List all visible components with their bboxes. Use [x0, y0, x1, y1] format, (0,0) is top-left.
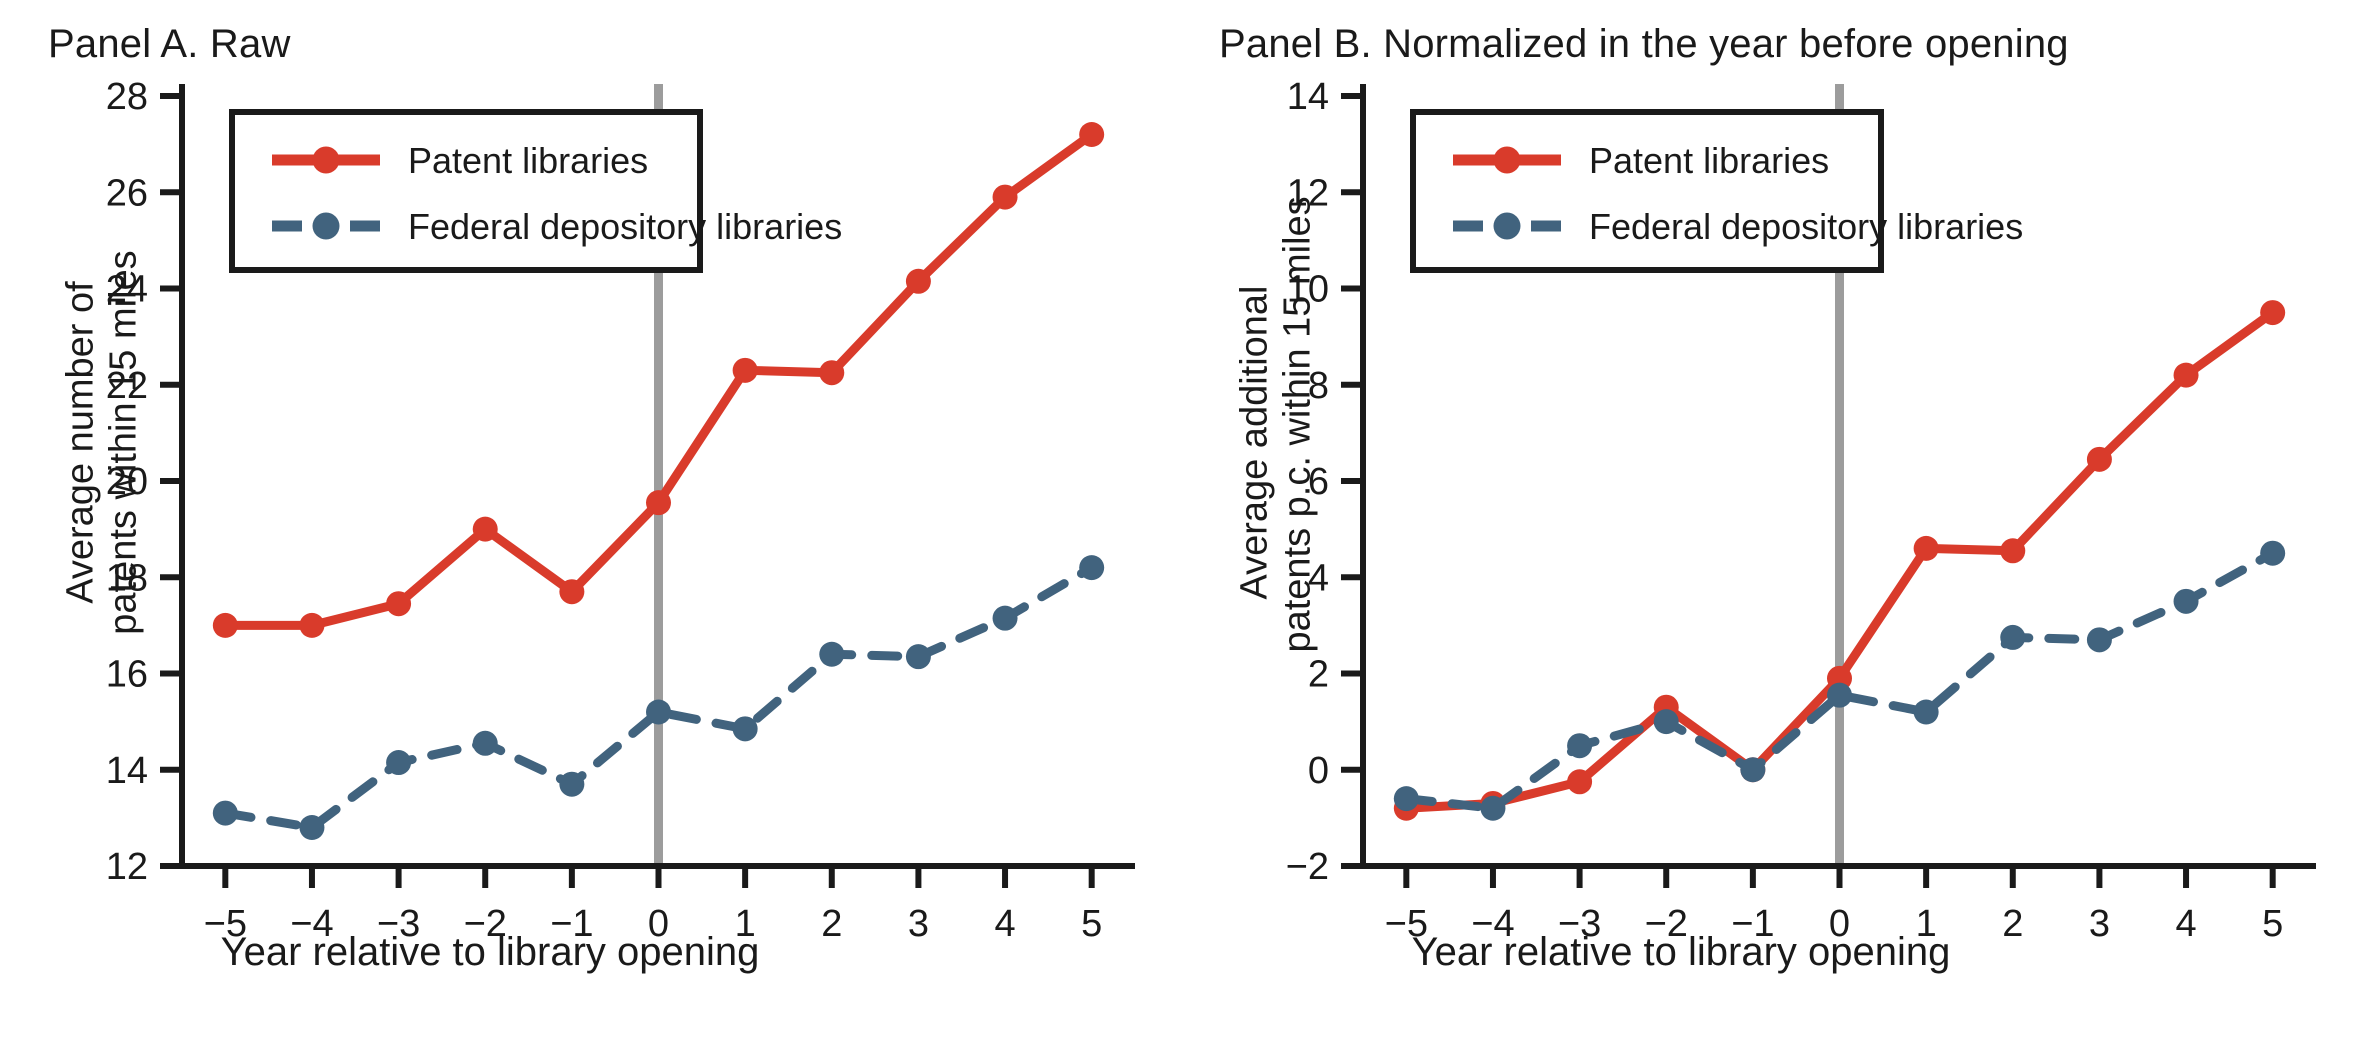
- panel-b-y-tick-label: 10: [1287, 269, 1329, 311]
- panel-b-y-tick-label: 6: [1308, 461, 1329, 503]
- panel-b-xlabel: Year relative to library opening: [1371, 930, 1991, 975]
- panel-a-x-tick-label: 4: [994, 903, 1015, 945]
- panel-a-data-point: [819, 642, 844, 667]
- panel-b-legend-marker-0: [1494, 147, 1521, 174]
- panel-b-y-tick-label: 14: [1287, 76, 1329, 118]
- panel-a-plot: 121416182022242628−5−4−3−2−1012345Patent…: [0, 0, 1181, 1000]
- panel-b-x-tick-label: 2: [2002, 903, 2023, 945]
- panel-a-legend-marker-1: [313, 213, 340, 240]
- panel-b-x-tick-label: 4: [2175, 903, 2196, 945]
- panel-b-data-point: [1740, 757, 1765, 782]
- panel-a-data-point: [559, 579, 584, 604]
- panel-b-svg: −202468101214−5−4−3−2−1012345Patent libr…: [1181, 0, 2362, 1000]
- panel-b-data-point: [2087, 627, 2112, 652]
- panel-a-data-point: [733, 358, 758, 383]
- panel-a-data-point: [213, 801, 238, 826]
- panel-a-legend-marker-0: [313, 147, 340, 174]
- panel-a-y-tick-label: 16: [106, 654, 148, 696]
- panel-b-data-point: [2000, 625, 2025, 650]
- panel-a-legend-label-1: Federal depository libraries: [408, 206, 842, 247]
- panel-a-data-point: [819, 360, 844, 385]
- panel-b-y-tick-label: 12: [1287, 172, 1329, 214]
- panel-a: Panel A. Raw Average number of patents w…: [0, 0, 1181, 1054]
- panel-a-legend-label-0: Patent libraries: [408, 140, 648, 181]
- panel-b-data-point: [1827, 683, 1852, 708]
- panel-b: Panel B. Normalized in the year before o…: [1181, 0, 2362, 1054]
- panel-b-data-point: [2260, 541, 2285, 566]
- panel-a-data-point: [906, 644, 931, 669]
- panel-a-x-tick-label: 3: [908, 903, 929, 945]
- panel-b-data-point: [2174, 589, 2199, 614]
- panel-b-data-point: [1394, 786, 1419, 811]
- panel-a-data-point: [993, 606, 1018, 631]
- panel-a-data-point: [646, 490, 671, 515]
- panel-a-data-point: [386, 750, 411, 775]
- panel-b-data-point: [1914, 700, 1939, 725]
- panel-a-data-point: [993, 185, 1018, 210]
- panel-a-y-tick-label: 22: [106, 365, 148, 407]
- panel-b-x-tick-label: 5: [2262, 903, 2283, 945]
- panel-a-x-tick-label: 5: [1081, 903, 1102, 945]
- panel-b-data-point: [2087, 447, 2112, 472]
- panel-a-data-point: [386, 591, 411, 616]
- panel-a-svg: 121416182022242628−5−4−3−2−1012345Patent…: [0, 0, 1181, 1000]
- panel-a-y-tick-label: 24: [106, 269, 148, 311]
- panel-b-data-point: [2174, 363, 2199, 388]
- panel-b-data-point: [1654, 709, 1679, 734]
- panel-b-legend-marker-1: [1494, 213, 1521, 240]
- panel-b-y-tick-label: 4: [1308, 557, 1329, 599]
- panel-a-y-tick-label: 26: [106, 172, 148, 214]
- panel-a-y-tick-label: 14: [106, 750, 148, 792]
- panel-a-y-tick-label: 18: [106, 557, 148, 599]
- panel-b-data-point: [2260, 300, 2285, 325]
- panel-b-y-tick-label: 0: [1308, 750, 1329, 792]
- panel-a-data-point: [1079, 555, 1104, 580]
- panel-a-data-point: [559, 772, 584, 797]
- panel-a-data-point: [299, 815, 324, 840]
- panel-b-y-tick-label: 2: [1308, 654, 1329, 696]
- panel-b-legend-label-0: Patent libraries: [1589, 140, 1829, 181]
- panel-a-data-point: [213, 613, 238, 638]
- figure-two-panel-chart: Panel A. Raw Average number of patents w…: [0, 0, 2362, 1054]
- panel-b-y-tick-label: −2: [1286, 846, 1329, 888]
- panel-b-data-point: [2000, 538, 2025, 563]
- panel-a-data-point: [299, 613, 324, 638]
- panel-a-data-point: [733, 716, 758, 741]
- panel-a-data-point: [1079, 122, 1104, 147]
- panel-a-data-point: [473, 731, 498, 756]
- panel-b-x-tick-label: 3: [2089, 903, 2110, 945]
- panel-a-xlabel: Year relative to library opening: [180, 930, 800, 975]
- panel-a-y-tick-label: 12: [106, 846, 148, 888]
- panel-b-legend-label-1: Federal depository libraries: [1589, 206, 2023, 247]
- panel-a-data-point: [646, 700, 671, 725]
- panel-b-data-point: [1567, 769, 1592, 794]
- panel-a-data-point: [906, 269, 931, 294]
- panel-b-data-point: [1480, 796, 1505, 821]
- panel-b-data-point: [1914, 536, 1939, 561]
- panel-b-data-point: [1567, 733, 1592, 758]
- panel-a-y-tick-label: 28: [106, 76, 148, 118]
- panel-a-data-point: [473, 517, 498, 542]
- panel-a-x-tick-label: 2: [821, 903, 842, 945]
- panel-a-y-tick-label: 20: [106, 461, 148, 503]
- panel-b-plot: −202468101214−5−4−3−2−1012345Patent libr…: [1181, 0, 2362, 1000]
- panel-b-y-tick-label: 8: [1308, 365, 1329, 407]
